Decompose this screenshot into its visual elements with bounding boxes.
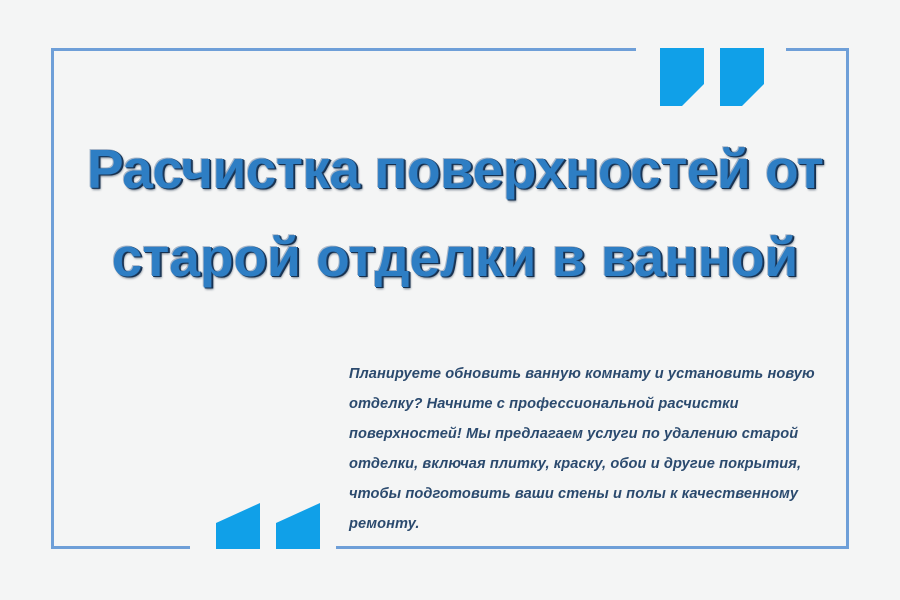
slide-title-line-1: Расчистка поверхностей от: [60, 125, 850, 213]
slide-body-text: Планируете обновить ванную комнату и уст…: [349, 359, 819, 539]
slide-title-line-2: старой отделки в ванной: [60, 213, 850, 301]
slide-canvas: Расчистка поверхностей от старой отделки…: [0, 0, 900, 600]
frame-border-bottom-right-segment: [336, 546, 849, 549]
closing-quote-icon: [660, 48, 770, 106]
frame-border-bottom-left-segment: [51, 546, 190, 549]
opening-quote-icon: [216, 503, 326, 549]
frame-border-top-left-segment: [51, 48, 636, 51]
slide-title: Расчистка поверхностей от старой отделки…: [60, 125, 850, 301]
frame-border-top-right-segment: [786, 48, 849, 51]
frame-border-left: [51, 48, 54, 549]
